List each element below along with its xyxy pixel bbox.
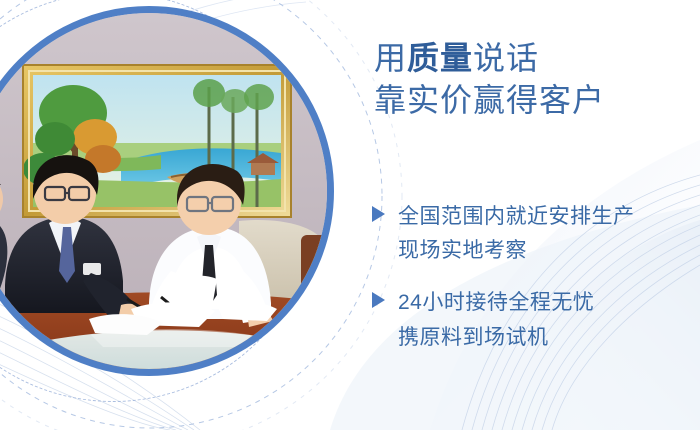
feature-line: 全国范围内就近安排生产: [398, 200, 700, 234]
triangle-arrow-icon: [372, 200, 398, 222]
headline-line-1-suffix: 说话: [473, 40, 539, 76]
feature-item: 24小时接待全程无忧 携原料到场试机: [372, 286, 700, 354]
promo-banner: 用质量说话 靠实价赢得客户 全国范围内就近安排生产 现场实地考察 24小时接待全…: [0, 0, 700, 430]
headline: 用质量说话 靠实价赢得客户: [374, 38, 605, 121]
feature-list: 全国范围内就近安排生产 现场实地考察 24小时接待全程无忧 携原料到场试机: [372, 200, 700, 373]
photo-illustration: [0, 13, 334, 376]
headline-line-1-emphasis: 质量: [407, 40, 473, 76]
banner-content: 用质量说话 靠实价赢得客户 全国范围内就近安排生产 现场实地考察 24小时接待全…: [372, 0, 700, 430]
headline-line-1: 用质量说话: [374, 38, 605, 80]
feature-line: 24小时接待全程无忧: [398, 286, 700, 320]
feature-item-text: 全国范围内就近安排生产 现场实地考察: [398, 200, 700, 268]
headline-line-2: 靠实价赢得客户: [374, 80, 605, 122]
feature-item-text: 24小时接待全程无忧 携原料到场试机: [398, 286, 700, 354]
feature-line: 现场实地考察: [398, 234, 700, 268]
headline-line-1-prefix: 用: [374, 40, 407, 76]
triangle-arrow-icon: [372, 286, 398, 308]
photo-circle-frame: [0, 6, 334, 376]
hero-photo: [0, 6, 334, 376]
feature-line: 携原料到场试机: [398, 321, 700, 355]
feature-item: 全国范围内就近安排生产 现场实地考察: [372, 200, 700, 268]
